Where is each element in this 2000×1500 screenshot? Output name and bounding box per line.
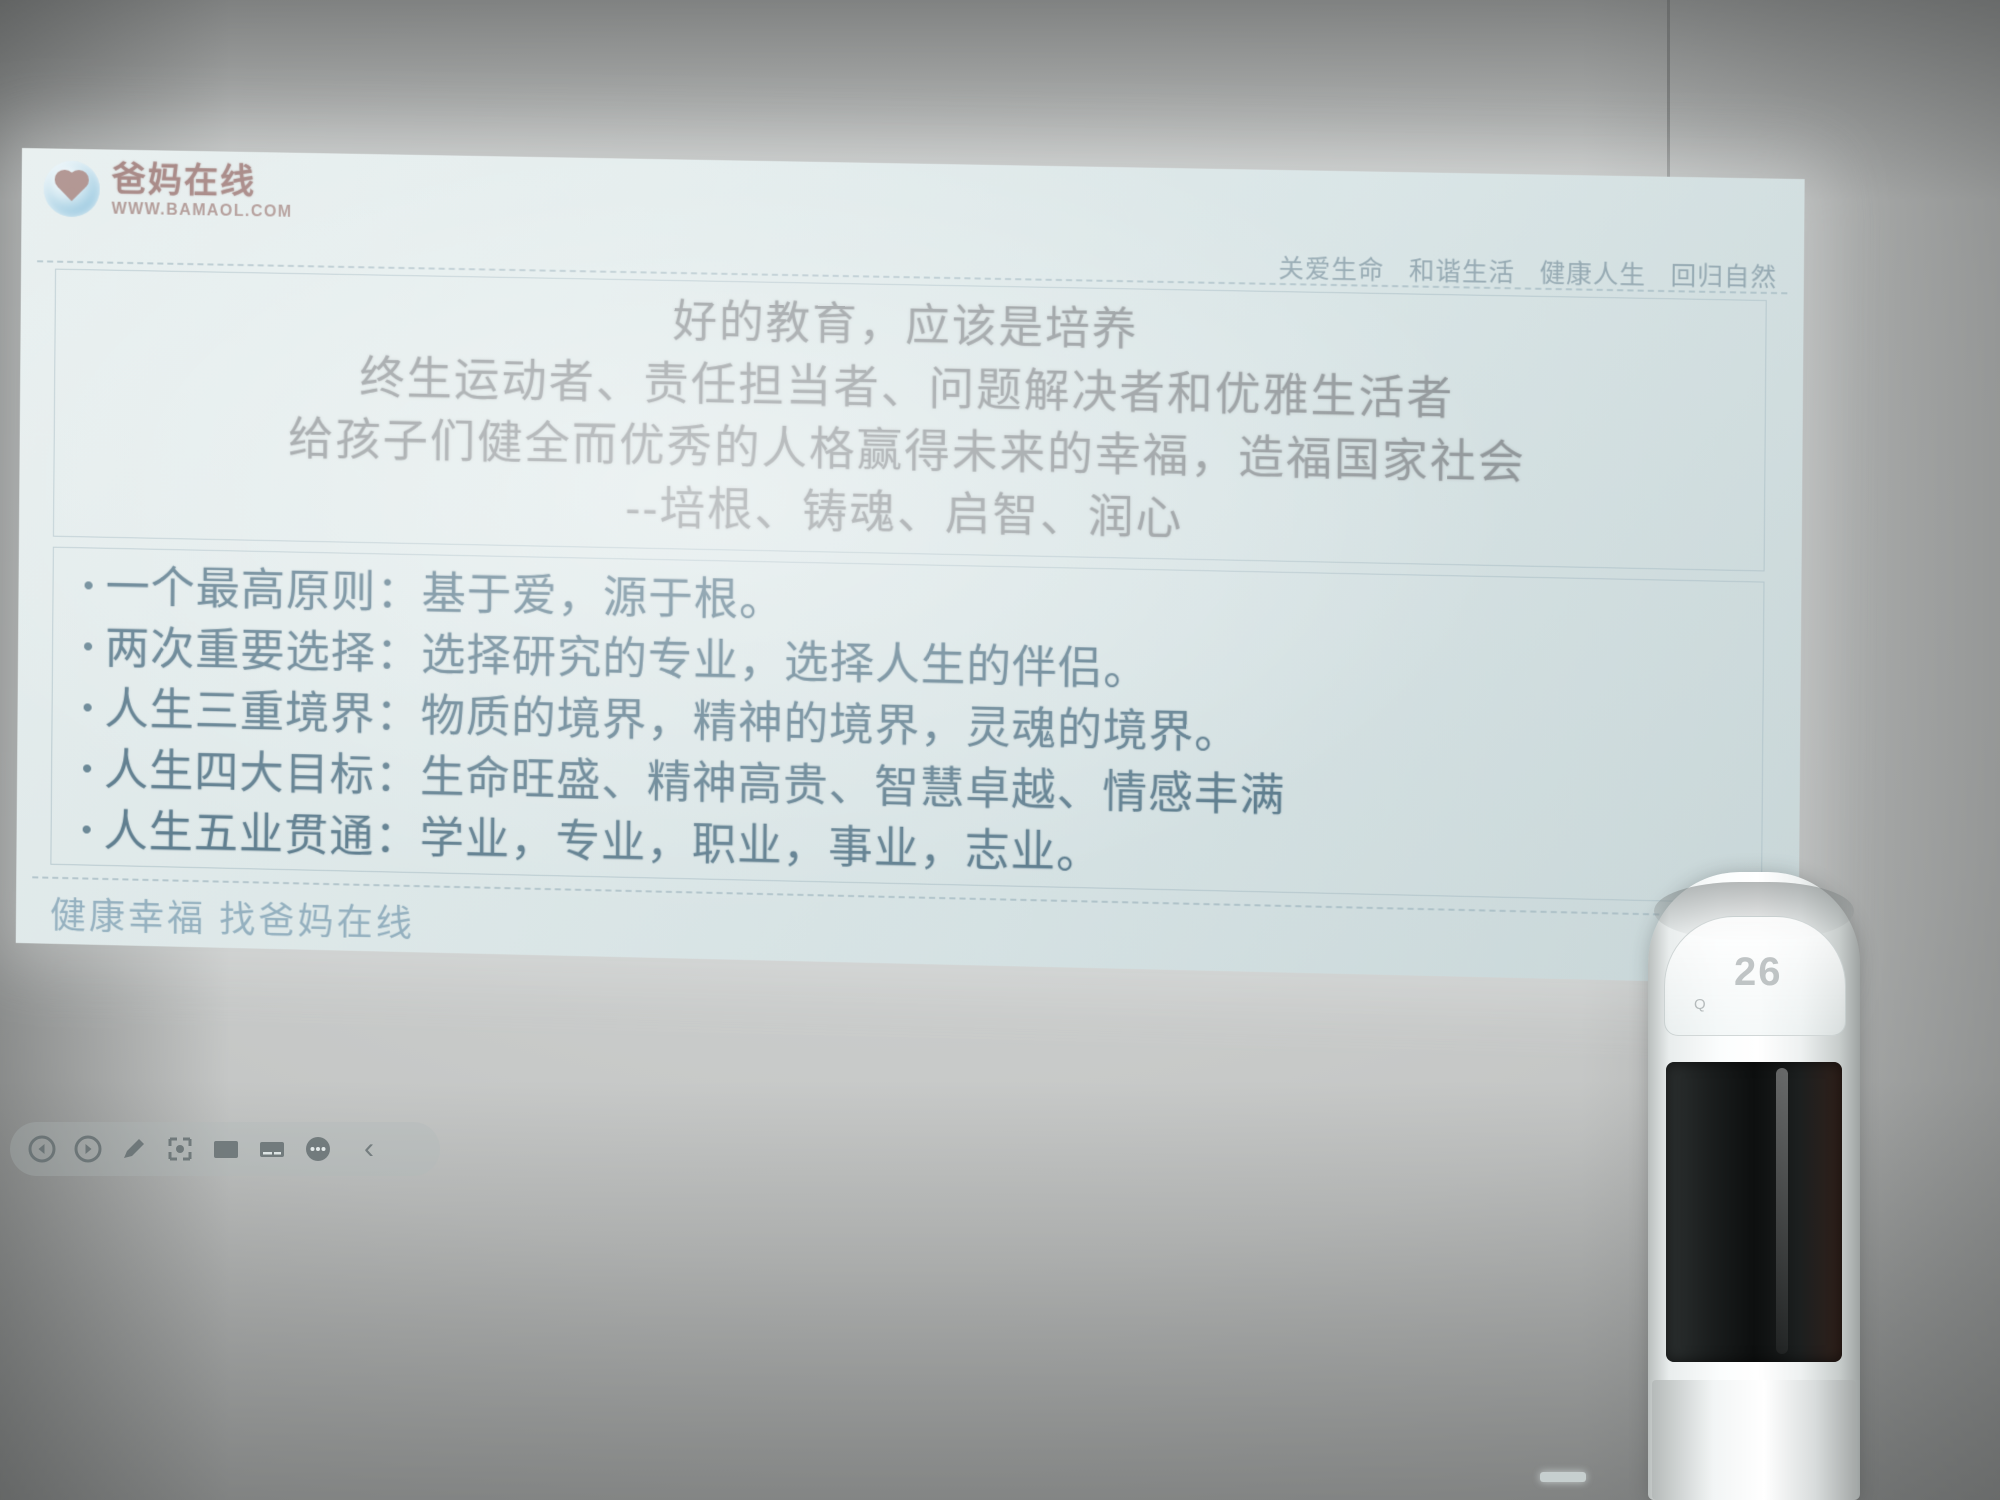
- previous-slide-icon[interactable]: [24, 1131, 60, 1167]
- projection-screen: 爸妈在线 WWW.BAMAOL.COM 关爱生命 和谐生活 健康人生 回归自然 …: [16, 148, 1805, 985]
- heart-in-circle-logo-icon: [43, 160, 99, 217]
- brand-logo-block: 爸妈在线 WWW.BAMAOL.COM: [43, 160, 292, 220]
- room-photo-scene: 爸妈在线 WWW.BAMAOL.COM 关爱生命 和谐生活 健康人生 回归自然 …: [0, 0, 2000, 1500]
- next-slide-icon[interactable]: [70, 1131, 106, 1167]
- air-conditioner-base: [1652, 1380, 1856, 1500]
- slide-bullet-box: • 一个最高原则：基于爱，源于根。 • 两次重要选择：选择研究的专业，选择人生的…: [50, 547, 1764, 904]
- pen-icon[interactable]: [116, 1131, 152, 1167]
- bullet-dot-icon: •: [71, 619, 105, 676]
- air-conditioner-panel-highlight: [1776, 1068, 1788, 1354]
- subtitles-icon[interactable]: [254, 1131, 290, 1167]
- tagline-part-2: 和谐生活: [1409, 257, 1515, 287]
- brand-text-block: 爸妈在线 WWW.BAMAOL.COM: [112, 162, 293, 220]
- more-options-icon[interactable]: [300, 1131, 336, 1167]
- presenter-toolbar[interactable]: ‹: [10, 1122, 440, 1176]
- slide-title-box: 好的教育，应该是培养 终生运动者、责任担当者、问题解决者和优雅生活者 给孩子们健…: [53, 269, 1767, 572]
- zoom-magnifier-icon[interactable]: [162, 1131, 198, 1167]
- floor-standing-air-conditioner: 26 Q: [1648, 872, 1860, 1500]
- air-conditioner-status-led: [1540, 1472, 1586, 1482]
- bullet-dot-icon: •: [71, 558, 105, 615]
- brand-name: 爸妈在线: [112, 162, 293, 199]
- tagline-part-4: 回归自然: [1670, 262, 1777, 292]
- air-conditioner-vent-panel: [1666, 1062, 1842, 1362]
- bullet-dot-icon: •: [70, 680, 104, 737]
- tagline-part-1: 关爱生命: [1278, 255, 1384, 285]
- air-conditioner-temperature: 26: [1734, 950, 1783, 995]
- slide-navigator-icon[interactable]: [208, 1131, 244, 1167]
- presentation-slide: 爸妈在线 WWW.BAMAOL.COM 关爱生命 和谐生活 健康人生 回归自然 …: [16, 148, 1805, 985]
- bullet-text-1: 一个最高原则：基于爱，源于根。: [105, 559, 784, 631]
- tagline-part-3: 健康人生: [1540, 259, 1647, 289]
- air-conditioner-brand-mark: Q: [1694, 996, 1707, 1013]
- brand-url: WWW.BAMAOL.COM: [112, 201, 293, 220]
- heart-icon: [58, 172, 86, 200]
- collapse-toolbar-button[interactable]: ‹: [364, 1132, 374, 1166]
- bullet-dot-icon: •: [70, 741, 104, 798]
- bullet-dot-icon: •: [69, 802, 103, 859]
- slide-footer-text: 健康幸福 找爸妈在线: [50, 887, 415, 948]
